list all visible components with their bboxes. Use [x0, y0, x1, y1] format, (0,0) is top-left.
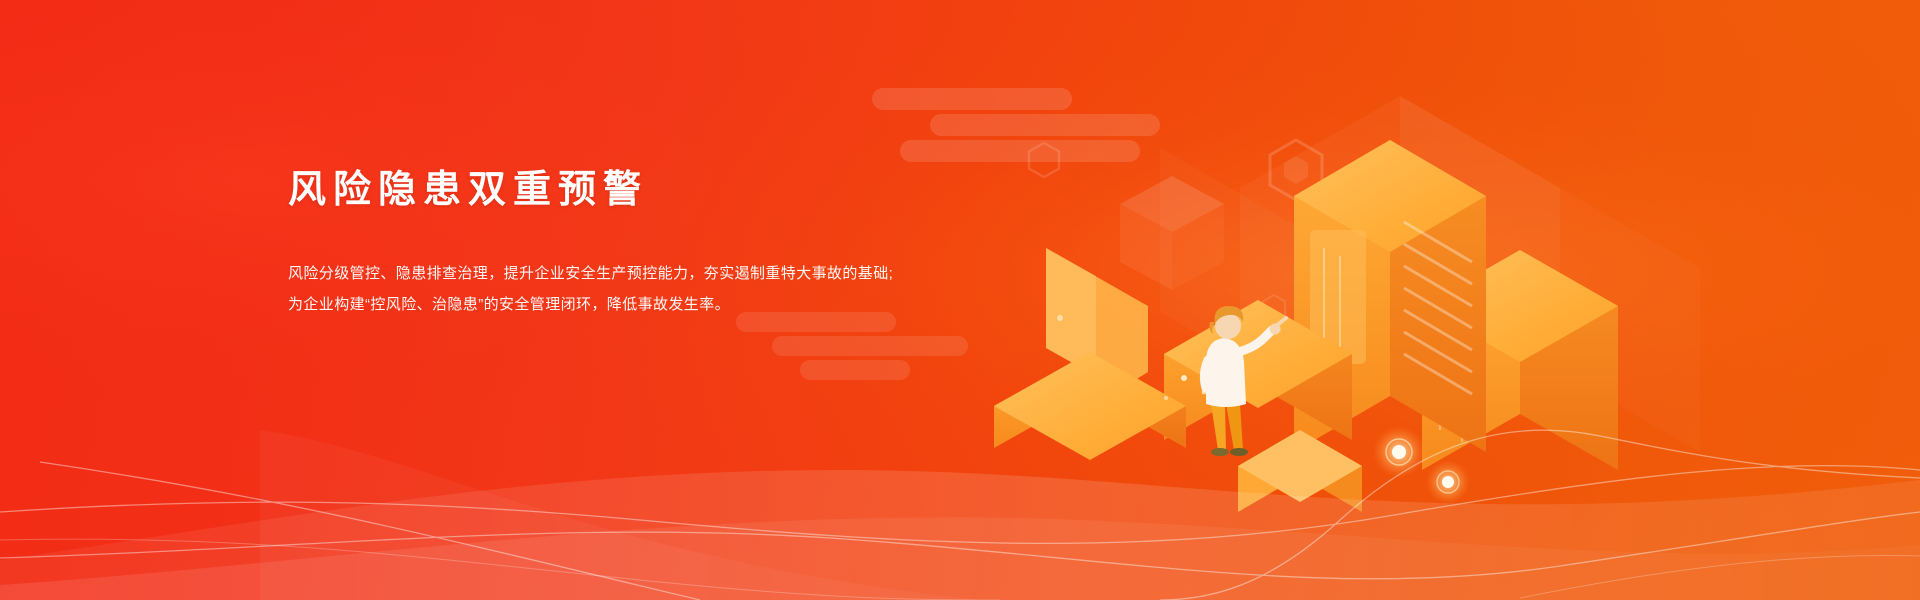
- person-pointing: [1204, 306, 1286, 456]
- background-structure: [1160, 96, 1700, 452]
- page-title: 风险隐患双重预警: [288, 168, 988, 214]
- hexagon-shape: [1029, 143, 1059, 177]
- floating-panel: [1046, 248, 1148, 414]
- wave-curve: [0, 512, 1920, 579]
- base-slab: [994, 352, 1186, 460]
- hexagon-shape: [1270, 140, 1322, 200]
- cloud-shape: [872, 88, 1160, 162]
- hero-text-block: 风险隐患双重预警 风险分级管控、隐患排查治理，提升企业安全生产预控能力，夯实遏制…: [288, 168, 988, 320]
- wave-curve: [40, 462, 700, 600]
- wave-curve: [0, 517, 1920, 600]
- subtitle-line-2: 为企业构建“控风险、治隐患”的安全管理闭环，降低事故发生率。: [288, 289, 988, 320]
- tower-center: [1294, 140, 1486, 452]
- hero-banner: 风险隐患双重预警 风险分级管控、隐患排查治理，提升企业安全生产预控能力，夯实遏制…: [0, 0, 1920, 600]
- cube-shape: [1120, 176, 1224, 290]
- subtitle-line-1: 风险分级管控、隐患排查治理，提升企业安全生产预控能力，夯实遏制重特大事故的基础;: [288, 258, 988, 289]
- tower-right: [1422, 250, 1618, 470]
- pointed-cube: [1238, 430, 1362, 512]
- cloud-shape: [736, 312, 968, 380]
- front-block: [1164, 300, 1352, 440]
- hero-subtitle: 风险分级管控、隐患排查治理，提升企业安全生产预控能力，夯实遏制重特大事故的基础;…: [288, 258, 988, 320]
- wave-curve: [0, 470, 1920, 600]
- wave-curve: [1160, 430, 1920, 600]
- wave-curve: [260, 430, 980, 600]
- glow-dot: [1164, 375, 1206, 400]
- wave-curve: [1520, 556, 1920, 598]
- wave-curve: [0, 539, 1000, 600]
- hexagon-shape: [1263, 295, 1285, 321]
- glow-dot: [1426, 460, 1470, 504]
- wave-curve: [0, 466, 1920, 544]
- glow-dot: [1373, 426, 1425, 478]
